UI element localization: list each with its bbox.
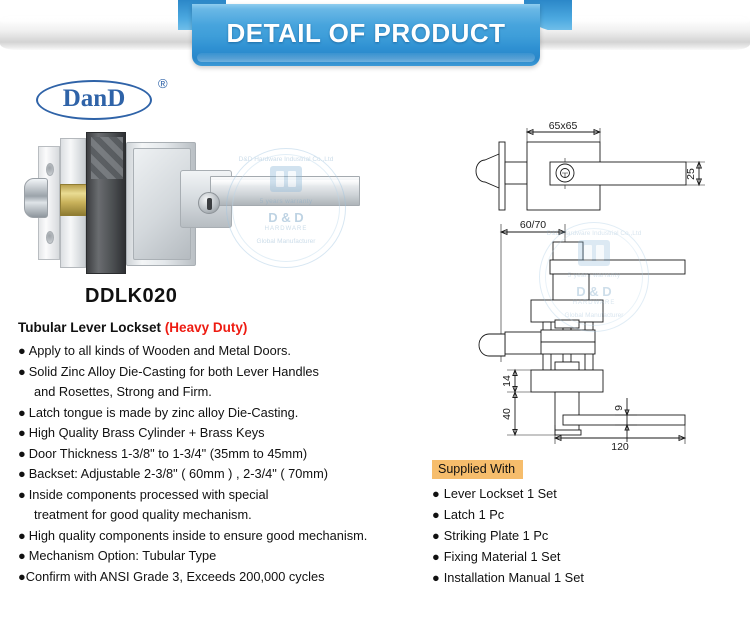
feature-item: ●High quality components inside to ensur… [18,526,438,547]
product-description: Tubular Lever Lockset (Heavy Duty) ●Appl… [18,320,438,587]
feature-item: ●Latch tongue is made by zinc alloy Die-… [18,403,438,424]
watermark-arc-top: D&D Hardware Industrial Co.,Ltd [226,156,346,163]
bullet-icon: ● [18,528,26,543]
bullet-icon: ● [18,446,26,461]
registered-trademark-icon: ® [158,76,168,91]
feature-text: treatment for good quality mechanism. [34,507,252,522]
feature-item: ●Confirm with ANSI Grade 3, Exceeds 200,… [18,567,438,588]
product-subtitle: Tubular Lever Lockset (Heavy Duty) [18,320,438,335]
feature-item: ●Inside components processed with specia… [18,485,438,506]
feature-text: High Quality Brass Cylinder + Brass Keys [29,425,265,440]
supplied-item-text: Fixing Material 1 Set [444,549,561,564]
technical-drawing-front-view: 65x65 25 [455,118,745,218]
latch-bolt [24,178,48,218]
dim-label-backset: 60/70 [520,219,546,231]
supplied-item-text: Lever Lockset 1 Set [444,486,557,501]
latch-mechanism-body [86,132,126,274]
product-detail-page: DETAIL OF PRODUCT DanD ® D&D Hardware In… [0,0,750,641]
header-banner: DETAIL OF PRODUCT [0,0,750,68]
strike-plate-hole [46,231,54,244]
dim-label-projection: 40 [501,408,513,420]
supplied-item: ●Latch 1 Pc [432,504,732,525]
feature-text: Backset: Adjustable 2-3/8" ( 60mm ) , 2-… [29,466,328,481]
dim-label-lever-height: 25 [685,168,697,180]
bullet-icon: ● [18,405,26,420]
brand-logo: DanD ® [36,72,186,120]
page-title: DETAIL OF PRODUCT [192,18,540,49]
watermark-brand: D & D [226,210,346,225]
supplied-with-list: ●Lever Lockset 1 Set●Latch 1 Pc●Striking… [432,483,732,588]
supplied-item-text: Striking Plate 1 Pc [444,528,549,543]
bullet-icon: ● [18,569,26,584]
lever-handle [210,176,360,206]
watermark-outer-ring [226,148,346,268]
bullet-icon: ● [18,343,26,358]
bullet-icon: ● [18,466,26,481]
bullet-icon: ● [432,528,440,543]
feature-text: Mechanism Option: Tubular Type [29,548,217,563]
feature-text: Apply to all kinds of Wooden and Metal D… [29,343,291,358]
supplied-with-header: Supplied With [432,460,523,479]
dim-label-rosette: 65x65 [549,120,578,132]
watermark: D&D Hardware Industrial Co.,Ltd 5 years … [226,148,346,268]
bullet-icon: ● [18,487,26,502]
feature-item: ●Backset: Adjustable 2-3/8" ( 60mm ) , 2… [18,464,438,485]
technical-drawing-side-view: 60/70 [455,212,745,452]
product-photo: D&D Hardware Industrial Co.,Ltd 5 years … [30,130,360,280]
feature-text: High quality components inside to ensure… [29,528,368,543]
product-model-name: DDLK020 [85,285,177,308]
strike-plate-hole [46,163,54,176]
feature-text: Solid Zinc Alloy Die-Casting for both Le… [29,364,319,379]
feature-text: Door Thickness 1-3/8" to 1-3/4" (35mm to… [29,446,307,461]
feature-text: and Rosettes, Strong and Firm. [34,384,212,399]
feature-text: Confirm with ANSI Grade 3, Exceeds 200,0… [26,569,325,584]
bullet-icon: ● [18,364,26,379]
supplied-item: ●Striking Plate 1 Pc [432,525,732,546]
supplied-item: ●Fixing Material 1 Set [432,546,732,567]
watermark-subbrand: HARDWARE [226,226,346,232]
feature-list: ●Apply to all kinds of Wooden and Metal … [18,341,438,587]
feature-item: and Rosettes, Strong and Firm. [18,382,438,403]
dim-label-rose-thickness: 14 [501,375,513,387]
watermark-arc-bottom: Global Manufacturer [226,238,346,245]
bullet-icon: ● [432,486,440,501]
feature-item: ●High Quality Brass Cylinder + Brass Key… [18,423,438,444]
supplied-with-section: Supplied With ●Lever Lockset 1 Set●Latch… [432,460,732,588]
bullet-icon: ● [432,507,440,522]
feature-item: treatment for good quality mechanism. [18,505,438,526]
supplied-item-text: Installation Manual 1 Set [444,570,584,585]
supplied-item-text: Latch 1 Pc [444,507,504,522]
dim-label-lever-length: 120 [611,441,629,452]
banner-ribbon: DETAIL OF PRODUCT [192,4,540,66]
feature-item: ●Mechanism Option: Tubular Type [18,546,438,567]
bullet-icon: ● [18,425,26,440]
bullet-icon: ● [432,549,440,564]
feature-item: ●Apply to all kinds of Wooden and Metal … [18,341,438,362]
product-subtitle-main: Tubular Lever Lockset [18,320,161,335]
key-cylinder-icon [198,192,220,214]
feature-item: ●Solid Zinc Alloy Die-Casting for both L… [18,362,438,383]
feature-item: ●Door Thickness 1-3/8" to 1-3/4" (35mm t… [18,444,438,465]
supplied-item: ●Lever Lockset 1 Set [432,483,732,504]
logo-text: DanD [36,80,152,120]
dim-label-lever-thickness: 9 [613,405,625,411]
product-subtitle-tag: (Heavy Duty) [165,320,248,335]
watermark-inner-ring [232,154,340,262]
supplied-item: ●Installation Manual 1 Set [432,567,732,588]
feature-text: Inside components processed with special [29,487,269,502]
feature-text: Latch tongue is made by zinc alloy Die-C… [29,405,299,420]
bullet-icon: ● [18,548,26,563]
bullet-icon: ● [432,570,440,585]
